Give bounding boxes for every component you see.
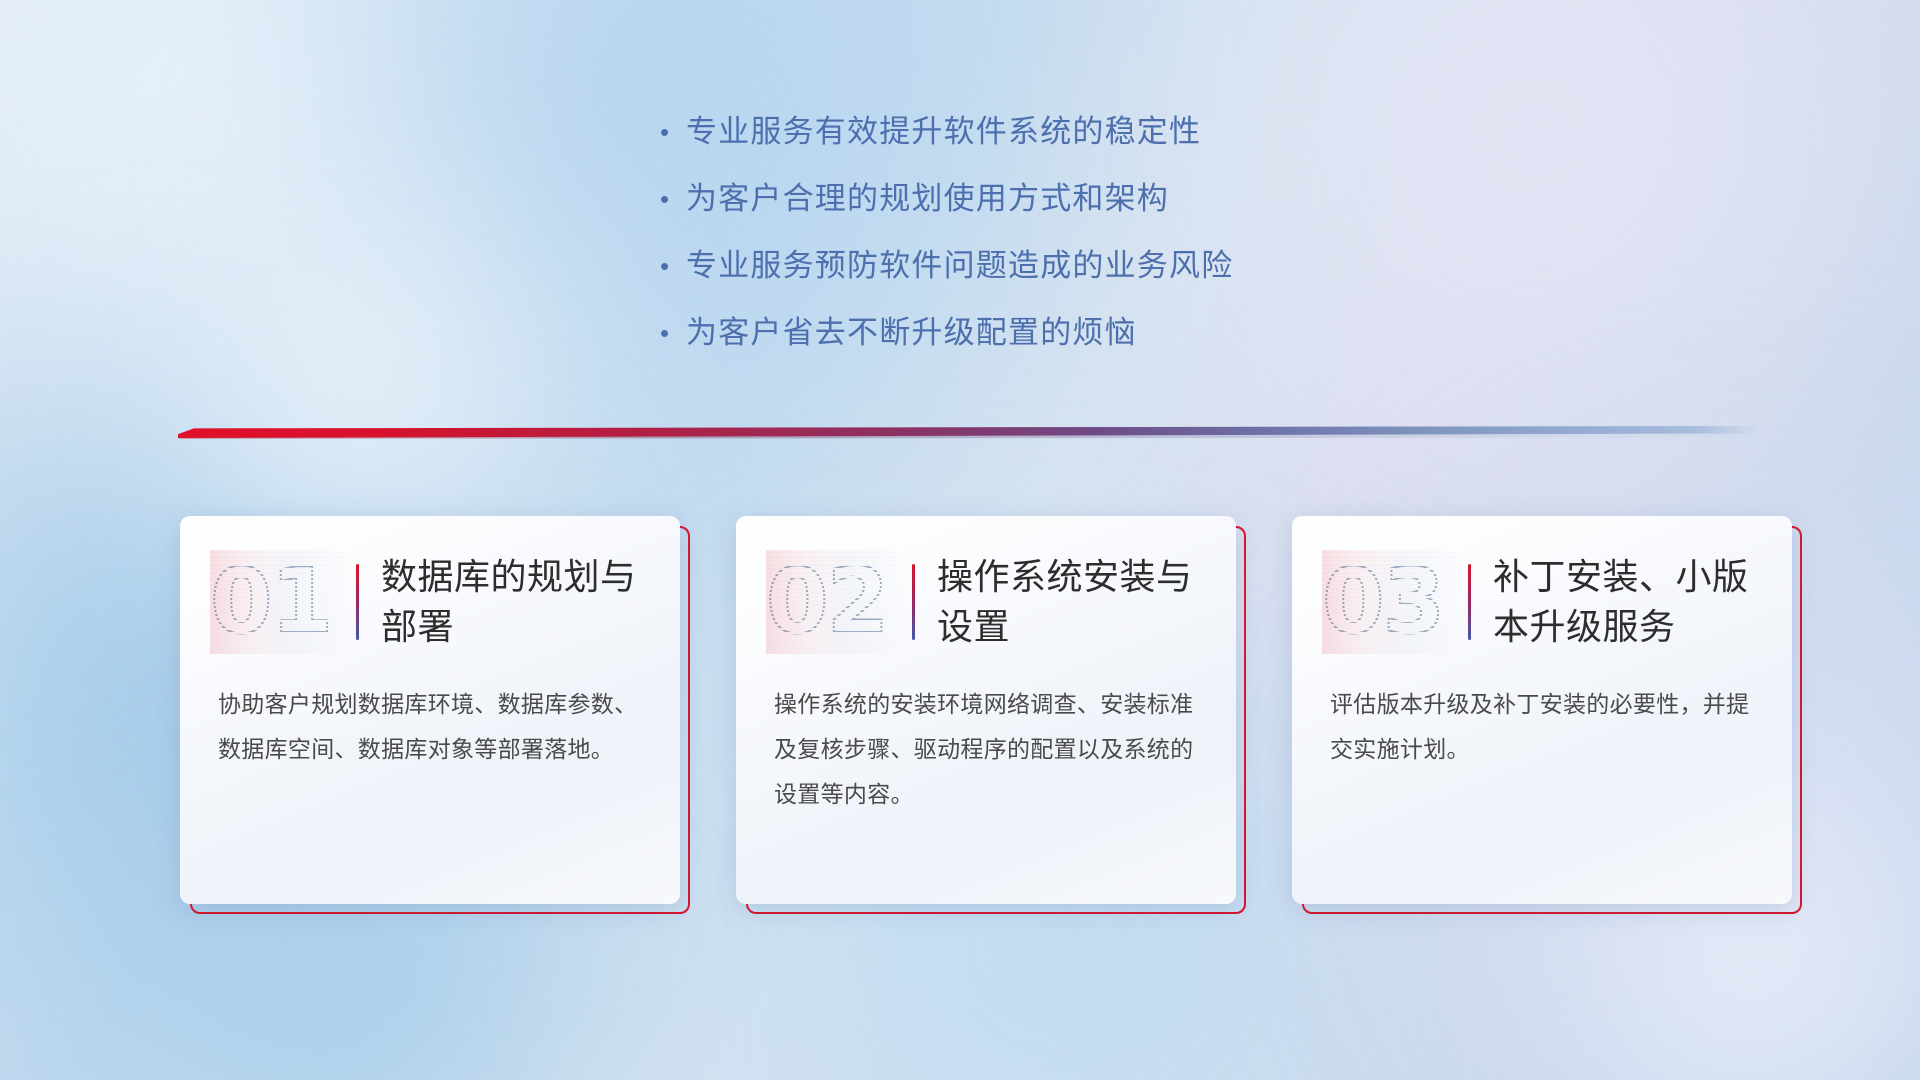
bullet-marker-icon: • xyxy=(660,246,686,286)
bullet-item-text: 专业服务有效提升软件系统的稳定性 xyxy=(686,112,1201,152)
card-number-scanline-overlay xyxy=(210,550,350,654)
service-card[interactable]: 03 补丁安装、小版本升级服务 评估版本升级及补丁安装的必要性，并提交实施计划。 xyxy=(1292,516,1792,904)
slide-content: • 专业服务有效提升软件系统的稳定性 • 为客户合理的规划使用方式和架构 • 专… xyxy=(0,0,1920,1080)
card-description: 协助客户规划数据库环境、数据库参数、数据库空间、数据库对象等部署落地。 xyxy=(180,658,680,772)
card-number-tint-overlay xyxy=(210,550,350,654)
service-card[interactable]: 02 操作系统安装与设置 操作系统的安装环境网络调查、安装标准及复核步骤、驱动程… xyxy=(736,516,1236,904)
benefits-bullet-list: • 专业服务有效提升软件系统的稳定性 • 为客户合理的规划使用方式和架构 • 专… xyxy=(660,112,1480,380)
bullet-item: • 专业服务预防软件问题造成的业务风险 xyxy=(660,246,1480,286)
bullet-item: • 为客户合理的规划使用方式和架构 xyxy=(660,179,1480,219)
bullet-marker-icon: • xyxy=(660,112,686,152)
card-panel: 02 操作系统安装与设置 操作系统的安装环境网络调查、安装标准及复核步骤、驱动程… xyxy=(736,516,1236,904)
card-accent-bar xyxy=(356,564,359,640)
card-header: 03 补丁安装、小版本升级服务 xyxy=(1292,516,1792,658)
card-description: 操作系统的安装环境网络调查、安装标准及复核步骤、驱动程序的配置以及系统的设置等内… xyxy=(736,658,1236,817)
card-number: 02 xyxy=(766,550,906,654)
card-number-tint-overlay xyxy=(766,550,906,654)
card-title: 操作系统安装与设置 xyxy=(937,552,1206,652)
bullet-item: • 为客户省去不断升级配置的烦恼 xyxy=(660,313,1480,353)
card-number: 01 xyxy=(210,550,350,654)
bullet-marker-icon: • xyxy=(660,179,686,219)
service-card-list: 01 数据库的规划与部署 协助客户规划数据库环境、数据库参数、数据库空间、数据库… xyxy=(180,516,1792,904)
bullet-item: • 专业服务有效提升软件系统的稳定性 xyxy=(660,112,1480,152)
card-header: 02 操作系统安装与设置 xyxy=(736,516,1236,658)
bullet-marker-icon: • xyxy=(660,313,686,353)
card-number-scanline-overlay xyxy=(1322,550,1462,654)
card-number-scanline-overlay xyxy=(766,550,906,654)
card-description: 评估版本升级及补丁安装的必要性，并提交实施计划。 xyxy=(1292,658,1792,772)
section-divider xyxy=(178,426,1758,438)
bullet-item-text: 为客户合理的规划使用方式和架构 xyxy=(686,179,1169,219)
card-title: 数据库的规划与部署 xyxy=(381,552,650,652)
card-header: 01 数据库的规划与部署 xyxy=(180,516,680,658)
card-title: 补丁安装、小版本升级服务 xyxy=(1493,552,1762,652)
card-panel: 03 补丁安装、小版本升级服务 评估版本升级及补丁安装的必要性，并提交实施计划。 xyxy=(1292,516,1792,904)
card-number-tint-overlay xyxy=(1322,550,1462,654)
bullet-item-text: 专业服务预防软件问题造成的业务风险 xyxy=(686,246,1233,286)
card-accent-bar xyxy=(1468,564,1471,640)
bullet-item-text: 为客户省去不断升级配置的烦恼 xyxy=(686,313,1137,353)
card-number: 03 xyxy=(1322,550,1462,654)
service-card[interactable]: 01 数据库的规划与部署 协助客户规划数据库环境、数据库参数、数据库空间、数据库… xyxy=(180,516,680,904)
card-panel: 01 数据库的规划与部署 协助客户规划数据库环境、数据库参数、数据库空间、数据库… xyxy=(180,516,680,904)
card-accent-bar xyxy=(912,564,915,640)
